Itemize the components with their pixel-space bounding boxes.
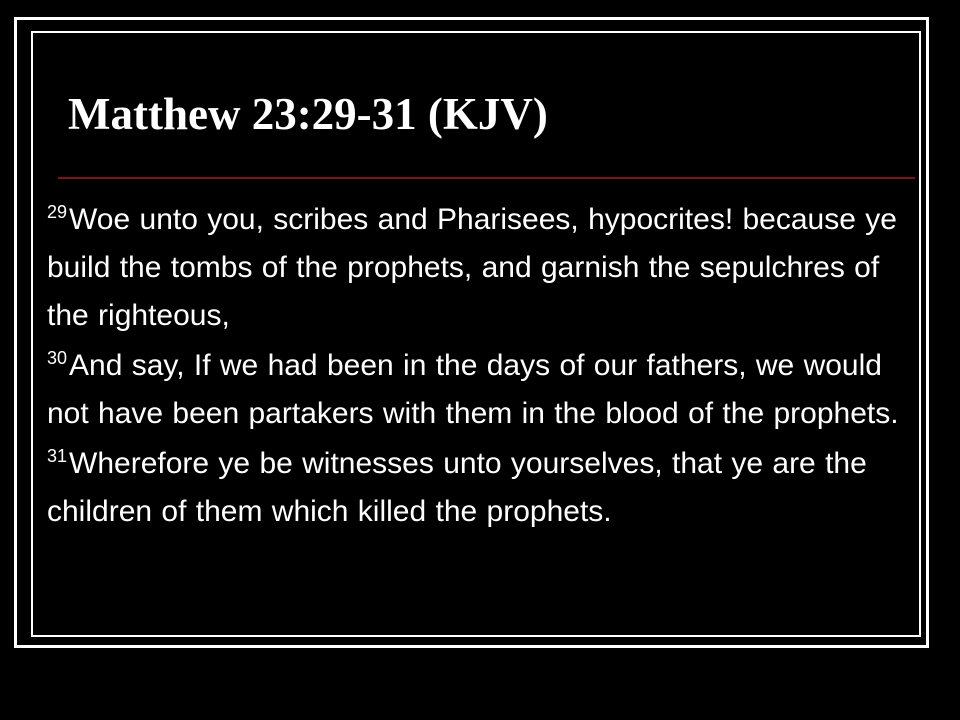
title-divider-rule: [58, 177, 915, 179]
presentation-slide: Matthew 23:29-31 (KJV) 29Woe unto you, s…: [0, 0, 960, 720]
verse-paragraph: 31Wherefore ye be witnesses unto yoursel…: [47, 440, 913, 536]
verse-paragraph: 30And say, If we had been in the days of…: [47, 342, 913, 438]
page-title: Matthew 23:29-31 (KJV): [41, 88, 911, 140]
verse-number: 30: [47, 348, 69, 368]
verse-text: Wherefore ye be witnesses unto yourselve…: [47, 447, 867, 528]
verse-number: 29: [47, 202, 69, 222]
slide-content: Matthew 23:29-31 (KJV) 29Woe unto you, s…: [41, 41, 911, 627]
scripture-body: 29Woe unto you, scribes and Pharisees, h…: [47, 196, 913, 538]
title-block: Matthew 23:29-31 (KJV): [41, 88, 911, 140]
verse-paragraph: 29Woe unto you, scribes and Pharisees, h…: [47, 196, 913, 340]
verse-text: And say, If we had been in the days of o…: [47, 349, 899, 430]
verse-text: Woe unto you, scribes and Pharisees, hyp…: [47, 203, 897, 332]
verse-number: 31: [47, 446, 69, 466]
